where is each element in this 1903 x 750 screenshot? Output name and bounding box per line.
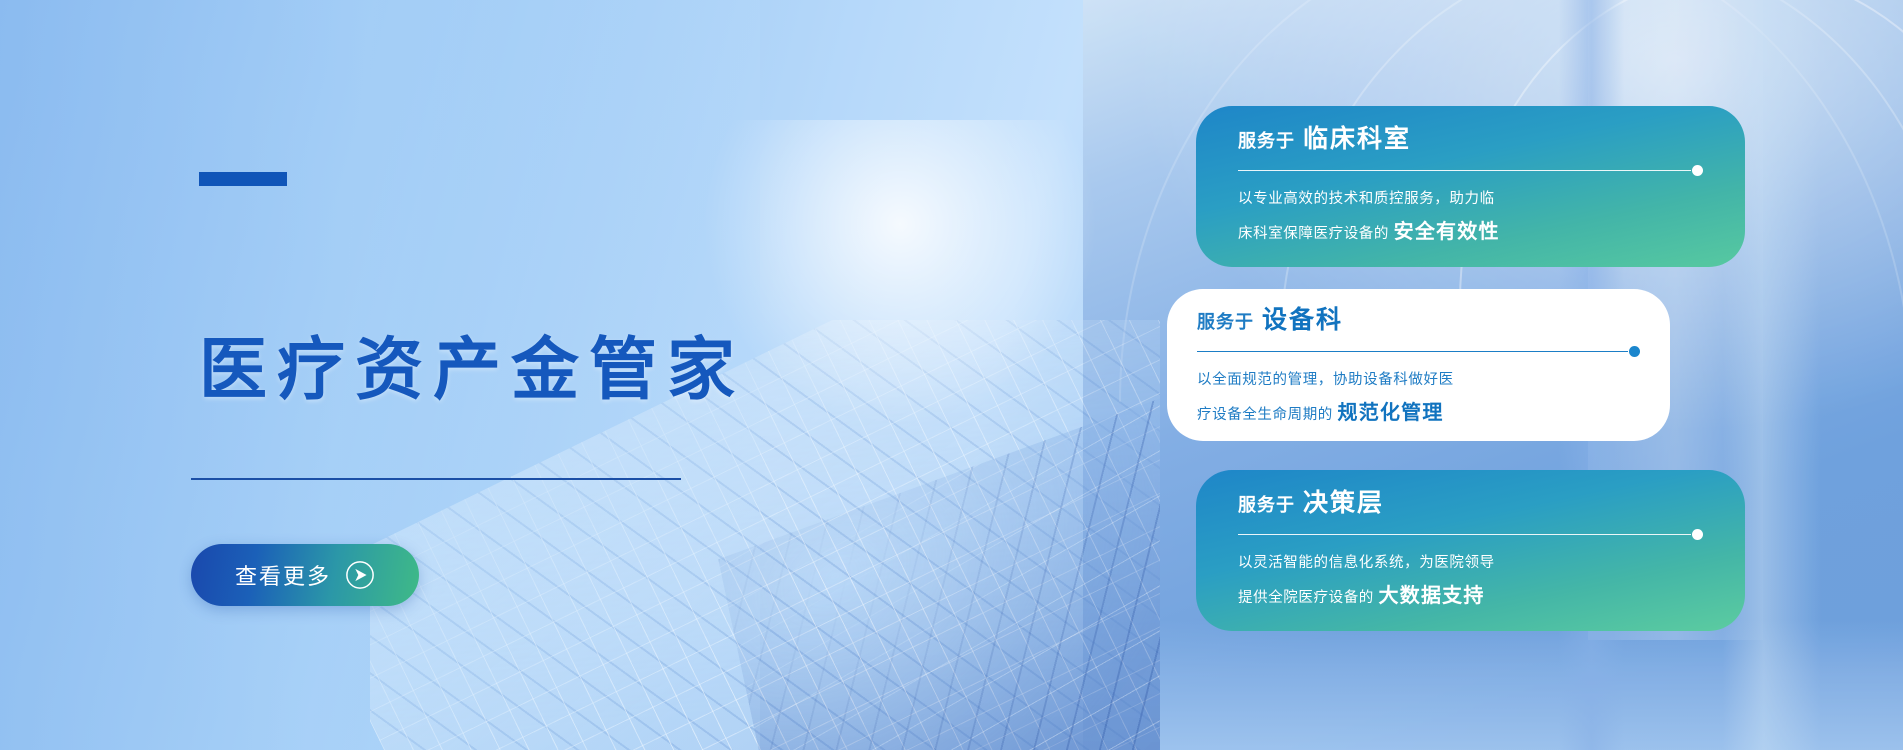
card-title: 服务于临床科室 xyxy=(1238,126,1703,154)
card-rule xyxy=(1197,346,1640,357)
card-rule-line xyxy=(1197,351,1628,352)
card-desc-highlight: 大数据支持 xyxy=(1379,585,1485,607)
service-card-list: 服务于临床科室 以专业高效的技术和质控服务，助力临 床科室保障医疗设备的 安全有… xyxy=(0,0,1903,750)
service-card-equipment[interactable]: 服务于设备科 以全面规范的管理，协助设备科做好医 疗设备全生命周期的 规范化管理 xyxy=(1167,289,1670,441)
card-desc-line-1: 以专业高效的技术和质控服务，助力临 xyxy=(1238,185,1703,213)
card-description: 以专业高效的技术和质控服务，助力临 床科室保障医疗设备的 安全有效性 xyxy=(1238,185,1703,252)
card-title: 服务于设备科 xyxy=(1197,307,1640,335)
card-title-prefix: 服务于 xyxy=(1238,131,1295,151)
card-desc-line-2: 疗设备全生命周期的 规范化管理 xyxy=(1197,394,1640,433)
card-rule xyxy=(1238,529,1703,540)
card-desc-line-2-text: 提供全院医疗设备的 xyxy=(1238,590,1374,606)
card-title-prefix: 服务于 xyxy=(1197,312,1254,332)
service-card-decision[interactable]: 服务于决策层 以灵活智能的信息化系统，为医院领导 提供全院医疗设备的 大数据支持 xyxy=(1196,470,1745,631)
card-rule-dot-icon xyxy=(1692,529,1703,540)
card-title-key: 设备科 xyxy=(1262,306,1343,334)
card-desc-highlight: 安全有效性 xyxy=(1394,221,1500,243)
card-title-key: 临床科室 xyxy=(1303,125,1411,153)
service-card-clinical[interactable]: 服务于临床科室 以专业高效的技术和质控服务，助力临 床科室保障医疗设备的 安全有… xyxy=(1196,106,1745,267)
card-desc-line-2-text: 床科室保障医疗设备的 xyxy=(1238,226,1389,242)
card-description: 以全面规范的管理，协助设备科做好医 疗设备全生命周期的 规范化管理 xyxy=(1197,366,1640,433)
card-rule-dot-icon xyxy=(1629,346,1640,357)
card-title-prefix: 服务于 xyxy=(1238,495,1295,515)
hero-banner: 医疗资产金管家 查看更多 服务于临床科室 xyxy=(0,0,1903,750)
card-rule-line xyxy=(1238,170,1691,171)
card-desc-line-2-text: 疗设备全生命周期的 xyxy=(1197,407,1333,423)
card-description: 以灵活智能的信息化系统，为医院领导 提供全院医疗设备的 大数据支持 xyxy=(1238,549,1703,616)
card-rule-dot-icon xyxy=(1692,165,1703,176)
card-desc-line-2: 提供全院医疗设备的 大数据支持 xyxy=(1238,577,1703,616)
card-title-key: 决策层 xyxy=(1303,489,1384,517)
card-desc-line-1: 以灵活智能的信息化系统，为医院领导 xyxy=(1238,549,1703,577)
card-rule-line xyxy=(1238,534,1691,535)
card-desc-line-2: 床科室保障医疗设备的 安全有效性 xyxy=(1238,213,1703,252)
card-rule xyxy=(1238,165,1703,176)
card-desc-line-1: 以全面规范的管理，协助设备科做好医 xyxy=(1197,366,1640,394)
card-title: 服务于决策层 xyxy=(1238,490,1703,518)
card-desc-highlight: 规范化管理 xyxy=(1338,402,1444,424)
